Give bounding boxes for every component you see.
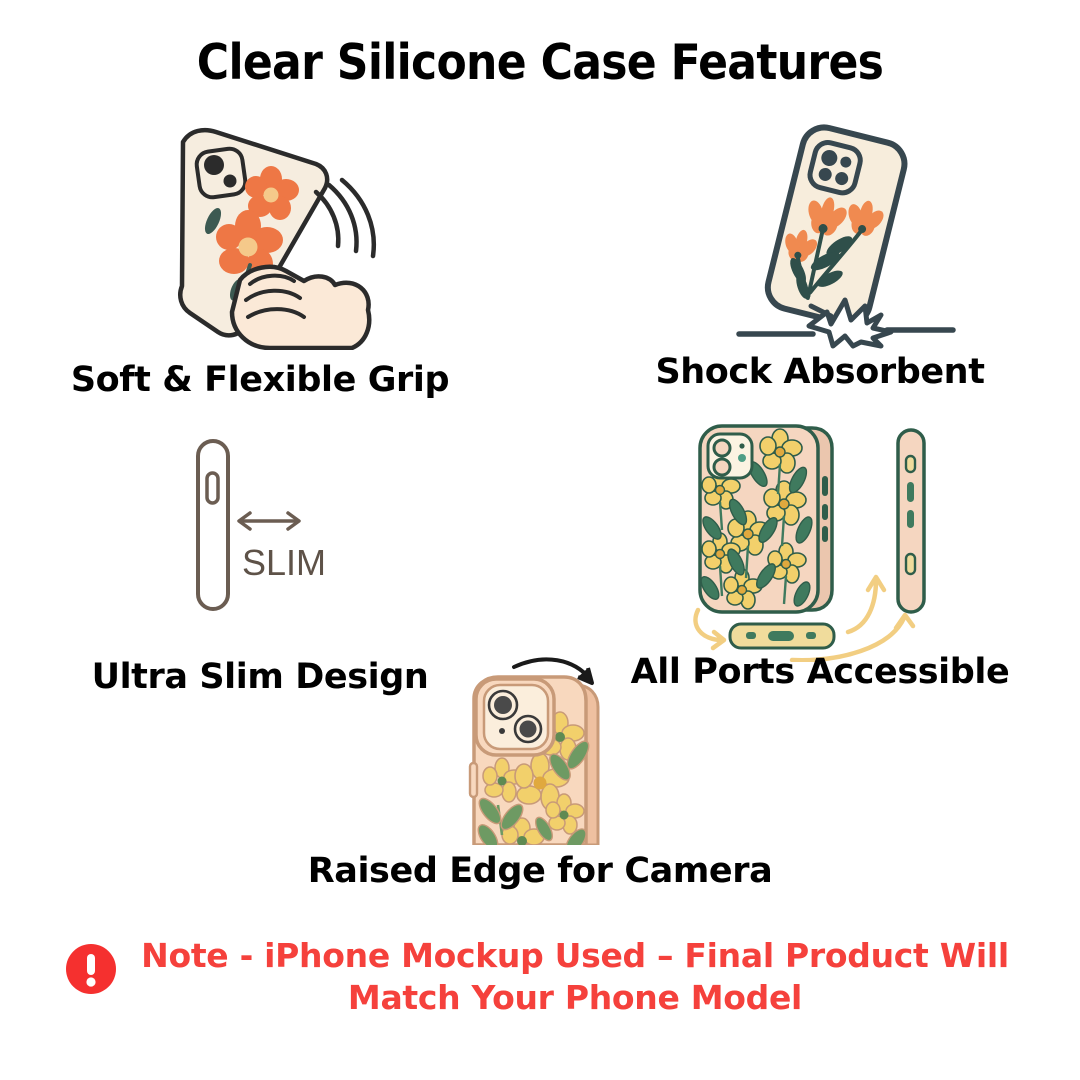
phone-side-profile-slim-icon: SLIM <box>170 425 360 630</box>
feature-label: Raised Edge for Camera <box>280 851 800 891</box>
note-text: Note - iPhone Mockup Used – Final Produc… <box>135 935 1015 1019</box>
note-bar: Note - iPhone Mockup Used – Final Produc… <box>0 935 1080 1019</box>
feature-label: Soft & Flexible Grip <box>0 360 520 400</box>
slim-caption: SLIM <box>242 542 326 583</box>
hand-flexing-phone-case-icon <box>120 120 400 355</box>
alert-exclamation-icon <box>65 943 117 1000</box>
feature-label: Shock Absorbent <box>560 352 1080 392</box>
phone-ports-access-icon <box>680 412 970 667</box>
phone-raised-camera-edge-icon <box>440 655 650 850</box>
page-title: Clear Silicone Case Features <box>0 34 1080 91</box>
phone-impact-shock-icon <box>705 120 965 355</box>
infographic-page: Clear Silicone Case Features <box>0 0 1080 1080</box>
